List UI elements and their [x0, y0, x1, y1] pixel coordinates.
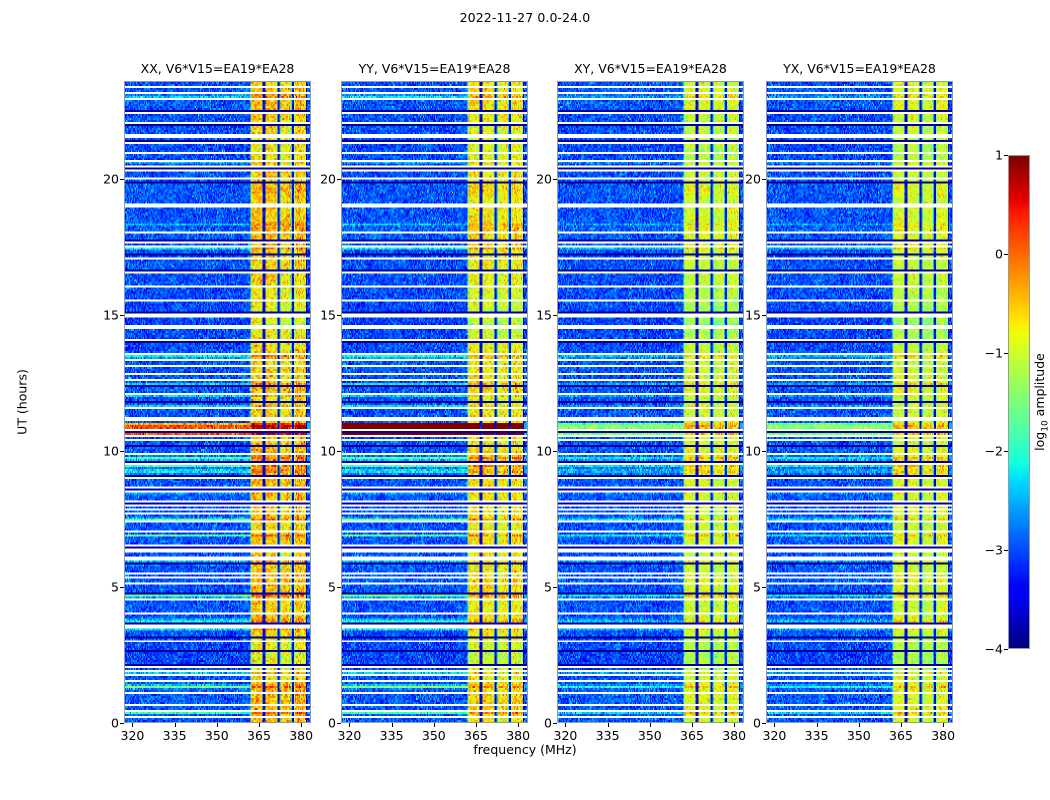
x-tick-label-yy-4: 380: [506, 728, 530, 743]
y-tick-label-yy-1: 5: [328, 579, 336, 594]
x-tick-label-yy-1: 335: [380, 728, 404, 743]
y-tick-label-yy-3: 15: [320, 307, 336, 322]
x-tick-yy-3: [476, 723, 477, 727]
y-tick-label-xy-4: 20: [536, 171, 552, 186]
colorbar-gradient: [1008, 155, 1030, 649]
y-tick-yx-2: [762, 451, 766, 452]
x-axis-label: frequency (MHz): [0, 742, 1050, 757]
y-tick-label-xx-4: 20: [103, 171, 119, 186]
x-tick-yx-0: [774, 723, 775, 727]
waterfall-image-yy[interactable]: [341, 81, 528, 723]
x-tick-yy-4: [518, 723, 519, 727]
colorbar-label: log10 amplitude: [1032, 353, 1050, 451]
x-tick-label-xy-0: 320: [553, 728, 577, 743]
x-tick-label-yx-2: 350: [847, 728, 871, 743]
x-tick-label-xx-1: 335: [163, 728, 187, 743]
y-tick-xy-0: [553, 723, 557, 724]
x-tick-yx-1: [817, 723, 818, 727]
x-tick-xx-1: [175, 723, 176, 727]
colorbar-tick-0: [1004, 155, 1008, 156]
x-tick-xx-0: [132, 723, 133, 727]
waterfall-image-xx[interactable]: [124, 81, 311, 723]
figure-canvas: 2022-11-27 0.0-24.0 XX, V6*V15=EA19*EA28…: [0, 0, 1050, 800]
y-tick-label-xy-0: 0: [544, 716, 552, 731]
y-tick-xy-3: [553, 315, 557, 316]
panel-title-yy: YY, V6*V15=EA19*EA28: [341, 61, 528, 76]
x-tick-label-yx-3: 365: [889, 728, 913, 743]
colorbar-tick-label-3: −2: [985, 444, 1003, 459]
colorbar-label-subscript: 10: [1040, 420, 1050, 431]
colorbar-tick-label-1: 0: [995, 246, 1003, 261]
y-tick-xx-3: [120, 315, 124, 316]
panel-title-xx: XX, V6*V15=EA19*EA28: [124, 61, 311, 76]
waterfall-image-xy[interactable]: [557, 81, 744, 723]
y-tick-yy-1: [337, 587, 341, 588]
colorbar-tick-3: [1004, 451, 1008, 452]
x-tick-label-xx-3: 365: [247, 728, 271, 743]
x-tick-label-yy-0: 320: [337, 728, 361, 743]
x-tick-label-xx-0: 320: [120, 728, 144, 743]
x-tick-label-xy-4: 380: [722, 728, 746, 743]
panel-xx: XX, V6*V15=EA19*EA2832033535036538005101…: [124, 81, 311, 723]
panel-title-yx: YX, V6*V15=EA19*EA28: [766, 61, 953, 76]
x-tick-xy-1: [608, 723, 609, 727]
y-tick-yx-0: [762, 723, 766, 724]
x-tick-xx-2: [217, 723, 218, 727]
waterfall-image-yx[interactable]: [766, 81, 953, 723]
x-tick-label-xy-3: 365: [680, 728, 704, 743]
panel-title-xy: XY, V6*V15=EA19*EA28: [557, 61, 744, 76]
y-tick-label-xx-0: 0: [111, 716, 119, 731]
x-tick-yy-1: [392, 723, 393, 727]
x-tick-label-xx-4: 380: [289, 728, 313, 743]
x-tick-label-yx-4: 380: [931, 728, 955, 743]
y-tick-yx-3: [762, 315, 766, 316]
y-tick-label-yx-3: 15: [745, 307, 761, 322]
y-tick-label-xx-3: 15: [103, 307, 119, 322]
y-tick-yy-3: [337, 315, 341, 316]
y-tick-yy-4: [337, 179, 341, 180]
y-tick-label-yx-1: 5: [753, 579, 761, 594]
x-tick-xy-2: [650, 723, 651, 727]
y-tick-label-xy-2: 10: [536, 443, 552, 458]
x-tick-xy-0: [565, 723, 566, 727]
y-tick-yy-2: [337, 451, 341, 452]
y-tick-xx-1: [120, 587, 124, 588]
figure-suptitle: 2022-11-27 0.0-24.0: [0, 10, 1050, 25]
x-tick-xy-3: [692, 723, 693, 727]
colorbar-tick-label-0: 1: [995, 148, 1003, 163]
colorbar-tick-4: [1004, 550, 1008, 551]
colorbar-tick-label-5: −4: [985, 642, 1003, 657]
y-tick-xy-4: [553, 179, 557, 180]
y-tick-yy-0: [337, 723, 341, 724]
colorbar-label-prefix: log: [1032, 432, 1047, 451]
x-tick-yy-0: [349, 723, 350, 727]
waterfall-canvas-xx: [125, 82, 310, 722]
y-tick-label-xy-3: 15: [536, 307, 552, 322]
colorbar-tick-2: [1004, 353, 1008, 354]
y-tick-label-yy-4: 20: [320, 171, 336, 186]
x-tick-yx-2: [859, 723, 860, 727]
x-tick-yy-2: [434, 723, 435, 727]
colorbar-tick-label-2: −1: [985, 345, 1003, 360]
colorbar-tick-label-4: −3: [985, 543, 1003, 558]
panel-yy: YY, V6*V15=EA19*EA2832033535036538005101…: [341, 81, 528, 723]
x-tick-yx-3: [901, 723, 902, 727]
x-tick-label-yy-3: 365: [464, 728, 488, 743]
x-tick-label-xy-2: 350: [638, 728, 662, 743]
waterfall-canvas-xy: [558, 82, 743, 722]
y-tick-xx-4: [120, 179, 124, 180]
y-tick-label-xx-2: 10: [103, 443, 119, 458]
x-tick-xx-4: [301, 723, 302, 727]
y-tick-label-yy-0: 0: [328, 716, 336, 731]
waterfall-canvas-yx: [767, 82, 952, 722]
y-tick-label-yx-0: 0: [753, 716, 761, 731]
y-tick-label-xx-1: 5: [111, 579, 119, 594]
colorbar-label-suffix: amplitude: [1032, 353, 1047, 420]
x-tick-xy-4: [734, 723, 735, 727]
colorbar-tick-1: [1004, 254, 1008, 255]
y-tick-label-xy-1: 5: [544, 579, 552, 594]
panel-yx: YX, V6*V15=EA19*EA2832033535036538005101…: [766, 81, 953, 723]
y-tick-xx-2: [120, 451, 124, 452]
y-tick-label-yx-2: 10: [745, 443, 761, 458]
y-tick-yx-1: [762, 587, 766, 588]
y-tick-xx-0: [120, 723, 124, 724]
panel-xy: XY, V6*V15=EA19*EA2832033535036538005101…: [557, 81, 744, 723]
y-tick-xy-1: [553, 587, 557, 588]
x-tick-yx-4: [943, 723, 944, 727]
y-tick-label-yx-4: 20: [745, 171, 761, 186]
x-tick-label-xx-2: 350: [205, 728, 229, 743]
x-tick-xx-3: [259, 723, 260, 727]
x-tick-label-xy-1: 335: [596, 728, 620, 743]
y-tick-xy-2: [553, 451, 557, 452]
y-tick-label-yy-2: 10: [320, 443, 336, 458]
x-tick-label-yy-2: 350: [422, 728, 446, 743]
colorbar-tick-5: [1004, 649, 1008, 650]
y-axis-label: UT (hours): [15, 369, 30, 435]
y-tick-yx-4: [762, 179, 766, 180]
x-tick-label-yx-0: 320: [762, 728, 786, 743]
colorbar[interactable]: 10−1−2−3−4: [1008, 155, 1030, 649]
waterfall-canvas-yy: [342, 82, 527, 722]
x-tick-label-yx-1: 335: [805, 728, 829, 743]
